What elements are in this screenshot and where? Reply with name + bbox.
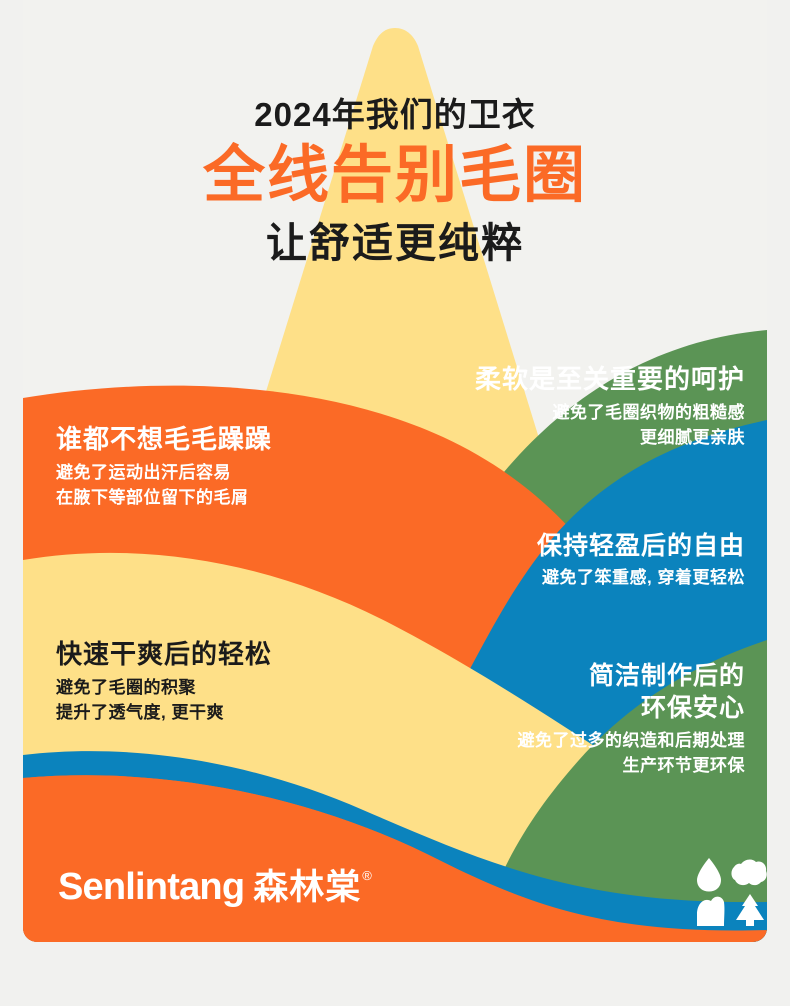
- benefit-subtext: 避免了运动出汗后容易 在腋下等部位留下的毛屑: [56, 461, 272, 510]
- benefit-heading-line: 简洁制作后的: [518, 660, 746, 692]
- benefit-subtext: 避免了笨重感, 穿着更轻松: [537, 566, 745, 591]
- benefit-heading: 简洁制作后的 环保安心: [518, 660, 746, 724]
- eco-badge-icon-grid[interactable]: [696, 856, 767, 928]
- benefit-block-no-fuzz: 谁都不想毛毛躁躁 避免了运动出汗后容易 在腋下等部位留下的毛屑: [56, 425, 272, 510]
- benefit-block-quick-dry-ease: 快速干爽后的轻松 避免了毛圈的积聚 提升了透气度, 更干爽: [56, 640, 272, 725]
- benefit-block-eco-peace-of-mind: 简洁制作后的 环保安心 避免了过多的织造和后期处理 生产环节更环保: [518, 660, 746, 778]
- benefit-heading: 快速干爽后的轻松: [56, 640, 272, 669]
- brand-logo-latin: Senlintang: [58, 868, 244, 906]
- water-drop-icon: [697, 858, 721, 892]
- benefit-block-softness-care: 柔软是至关重要的呵护 避免了毛圈织物的粗糙感 更细腻更亲肤: [475, 365, 745, 450]
- cloud-icon: [731, 860, 766, 886]
- benefit-heading-line: 环保安心: [518, 692, 746, 724]
- benefit-subtext-line: 生产环节更环保: [518, 754, 746, 779]
- hill-icon: [697, 897, 724, 926]
- benefit-subtext: 避免了毛圈的积聚 提升了透气度, 更干爽: [56, 676, 272, 725]
- benefit-subtext-line: 更细腻更亲肤: [475, 426, 745, 451]
- benefit-heading: 保持轻盈后的自由: [537, 532, 745, 560]
- benefit-subtext-line: 提升了透气度, 更干爽: [56, 701, 272, 726]
- benefit-subtext-line: 避免了笨重感, 穿着更轻松: [537, 566, 745, 591]
- benefit-subtext-line: 避免了过多的织造和后期处理: [518, 729, 746, 754]
- benefit-subtext-line: 避免了毛圈织物的粗糙感: [475, 401, 745, 426]
- pine-tree-icon: [736, 894, 764, 926]
- benefit-subtext-line: 避免了毛圈的积聚: [56, 676, 272, 701]
- brand-logo-cjk: 森林棠: [253, 870, 361, 905]
- benefit-subtext: 避免了毛圈织物的粗糙感 更细腻更亲肤: [475, 401, 745, 450]
- brand-logo[interactable]: Senlintang 森林棠 ®: [58, 868, 372, 906]
- infographic-poster: 2024年我们的卫衣 全线告别毛圈 让舒适更纯粹 谁都不想毛毛躁躁 避免了运动出…: [23, 0, 767, 942]
- benefit-subtext-line: 在腋下等部位留下的毛屑: [56, 486, 272, 511]
- benefit-heading: 柔软是至关重要的呵护: [475, 365, 745, 394]
- benefit-subtext-line: 避免了运动出汗后容易: [56, 461, 272, 486]
- benefit-subtext: 避免了过多的织造和后期处理 生产环节更环保: [518, 729, 746, 778]
- benefit-heading: 谁都不想毛毛躁躁: [56, 425, 272, 454]
- registered-trademark-icon: ®: [362, 869, 372, 882]
- benefit-block-lightweight-freedom: 保持轻盈后的自由 避免了笨重感, 穿着更轻松: [537, 532, 745, 591]
